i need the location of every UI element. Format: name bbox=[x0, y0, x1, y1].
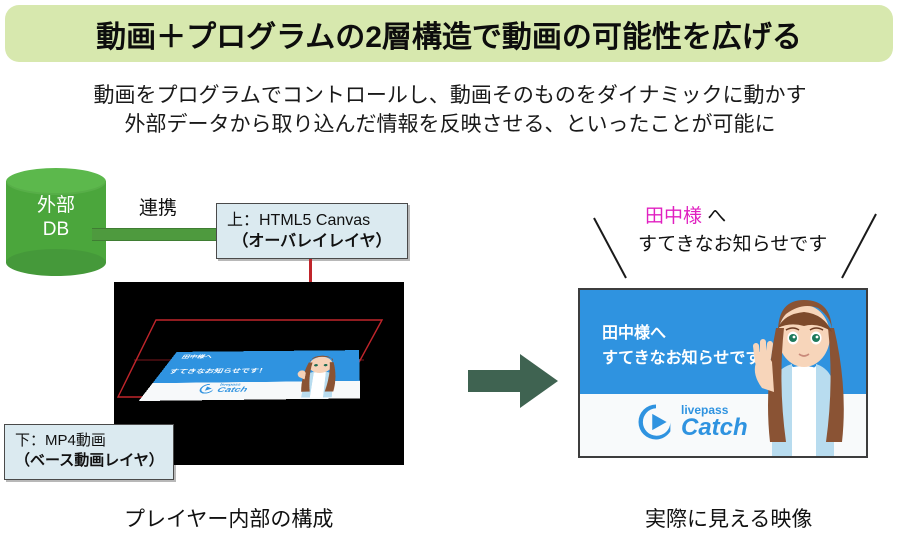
character-illustration-small bbox=[281, 353, 352, 399]
callout-overlay-line-2: （オーバレイレイヤ） bbox=[227, 231, 397, 252]
annotation-line-2: すてきなお知らせです bbox=[638, 229, 827, 256]
caption-right: 実際に見える映像 bbox=[645, 503, 812, 533]
connector-label: 連携 bbox=[118, 193, 198, 220]
callout-overlay-layer: 上：HTML5 Canvas （オーバレイレイヤ） bbox=[216, 203, 408, 259]
video-plane-text-body: すてきなお知らせです！ bbox=[167, 366, 269, 375]
db-label-line-1: 外部 bbox=[6, 194, 106, 218]
diagram-canvas: 動画＋プログラムの2層構造で動画の可能性を広げる 動画をプログラムでコントロール… bbox=[0, 0, 900, 550]
annotation-suffix: へ bbox=[702, 206, 726, 227]
callout-overlay-line-1: 上：HTML5 Canvas bbox=[227, 210, 397, 231]
livepass-catch-logo: livepass Catch bbox=[636, 402, 748, 442]
video-plane-text-top: 田中様へ bbox=[180, 354, 214, 360]
db-top-ellipse bbox=[6, 168, 106, 195]
db-label: 外部 DB bbox=[6, 194, 106, 242]
play-circle-icon bbox=[636, 402, 676, 442]
db-bottom-ellipse bbox=[6, 249, 106, 276]
logo-wordmark-small: livepass Catch bbox=[216, 383, 250, 394]
livepass-catch-logo-small: livepass Catch bbox=[196, 383, 250, 395]
subtitle-line-2: 外部データから取り込んだ情報を反映させる、といったことが可能に bbox=[0, 111, 900, 140]
character-illustration bbox=[738, 292, 868, 456]
db-connector-bar bbox=[92, 228, 220, 241]
caption-left: プレイヤー内部の構成 bbox=[124, 503, 333, 533]
callout-base-line-2: （ベース動画レイヤ） bbox=[15, 451, 163, 471]
visible-video-panel: 田中様へ すてきなお知らせです！ livepass Catch bbox=[578, 288, 868, 458]
subtitle-block: 動画をプログラムでコントロールし、動画そのものをダイナミックに動かす 外部データ… bbox=[0, 82, 900, 140]
db-label-line-2: DB bbox=[6, 218, 106, 242]
callout-base-line-1: 下：MP4動画 bbox=[15, 431, 163, 451]
external-db-cylinder: 外部 DB bbox=[6, 168, 106, 276]
result-text-top: 田中様へ bbox=[602, 319, 666, 343]
title-banner: 動画＋プログラムの2層構造で動画の可能性を広げる bbox=[5, 5, 893, 62]
callout-base-video-layer: 下：MP4動画 （ベース動画レイヤ） bbox=[4, 424, 174, 480]
annotation-line-1: 田中様 へ bbox=[645, 201, 726, 228]
subtitle-line-1: 動画をプログラムでコントロールし、動画そのものをダイナミックに動かす bbox=[0, 82, 900, 111]
logo-catch-text: Catch bbox=[216, 386, 249, 393]
right-arrow-icon bbox=[468, 352, 560, 410]
base-video-plane: 田中様へ すてきなお知らせです！ livepass Catch bbox=[139, 350, 360, 401]
annotation-customer-name: 田中様 bbox=[645, 206, 702, 227]
page-title: 動画＋プログラムの2層構造で動画の可能性を広げる bbox=[96, 12, 802, 56]
